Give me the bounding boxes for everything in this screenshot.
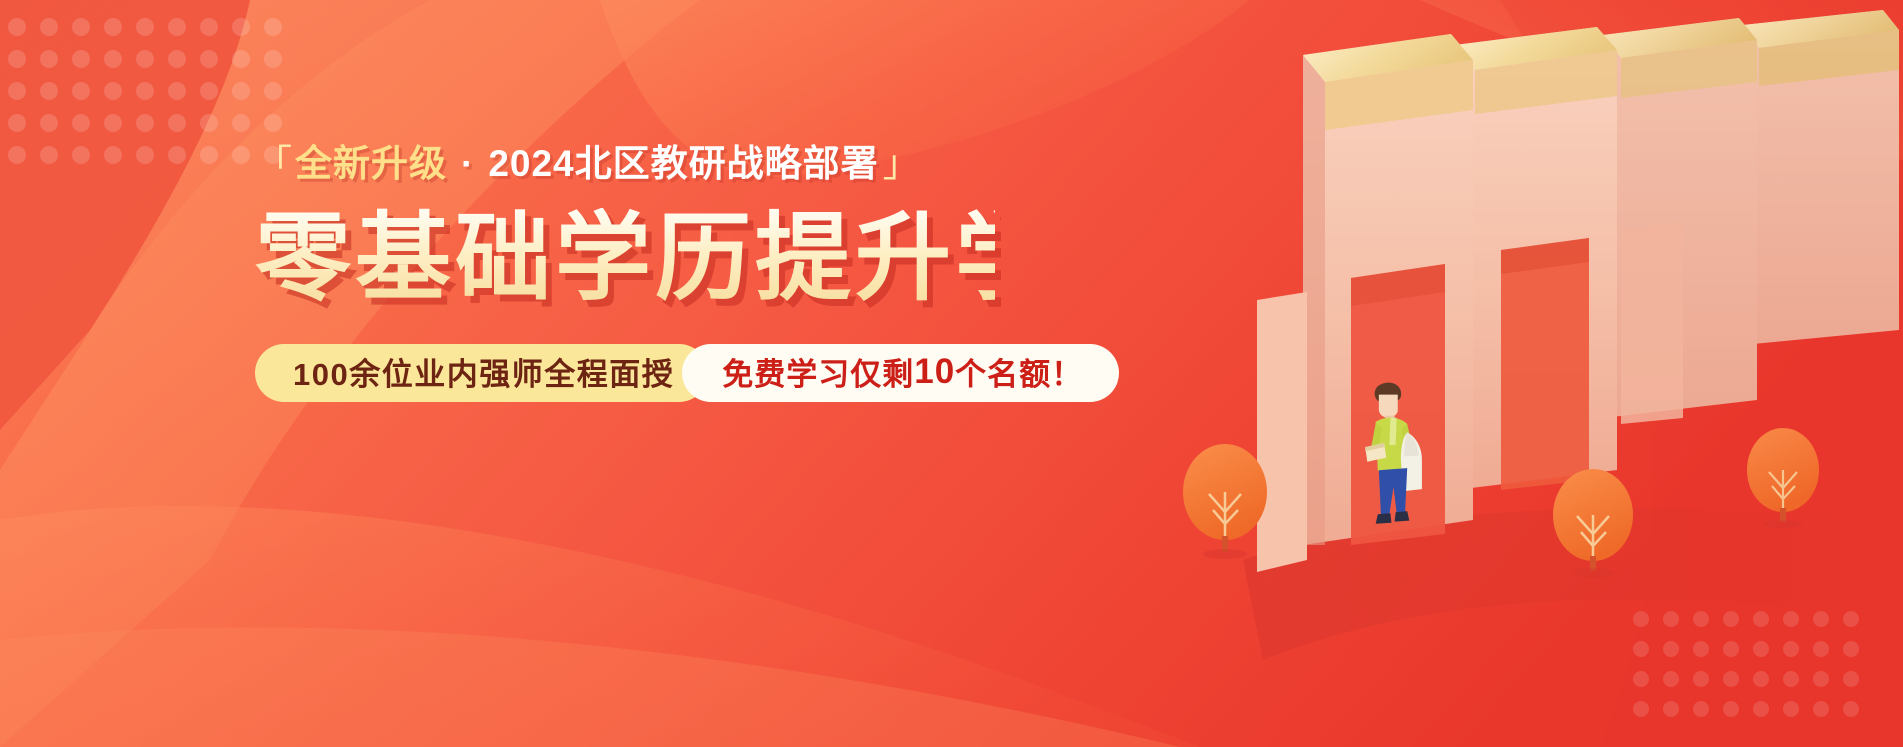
offer-pill-count: 10 [914,352,955,392]
promo-banner: 「 全新升级 · 2024北区教研战略部署 」 零基础学历提升学霸班 100余位… [0,0,1903,747]
book-arch-4 [1743,10,1899,345]
page-title: 零基础学历提升学霸班 [255,208,995,310]
subtitle-white-text: 2024北区教研战略部署 [488,145,878,182]
feature-pill-instructors: 100余位业内强师全程面授 [255,344,708,402]
pill-row: 100余位业内强师全程面授 免费学习仅剩 10 个名额！ [255,344,995,402]
dot-grid-top-left [8,18,296,178]
book-arch-1 [1257,34,1473,572]
feature-pill-label: 100余位业内强师全程面授 [293,349,674,394]
open-bracket: 「 [255,145,293,182]
offer-pill-seats[interactable]: 免费学习仅剩 10 个名额！ [682,344,1119,402]
subtitle-separator: · [447,145,488,182]
pillar-slab [1257,292,1307,572]
copy-block: 「 全新升级 · 2024北区教研战略部署 」 零基础学历提升学霸班 100余位… [255,145,995,402]
illustration-book-archway [1183,0,1903,747]
book-arch-2 [1455,27,1617,490]
offer-pill-prefix: 免费学习仅剩 [722,349,914,394]
book-arch-3 [1603,18,1757,424]
close-bracket: 」 [883,145,921,182]
illustration-svg [1183,0,1903,747]
subtitle-line: 「 全新升级 · 2024北区教研战略部署 」 [255,145,995,182]
tree-left [1183,444,1267,559]
subtitle-gold-text: 全新升级 [295,145,447,182]
offer-pill-suffix: 个名额！ [955,349,1083,394]
